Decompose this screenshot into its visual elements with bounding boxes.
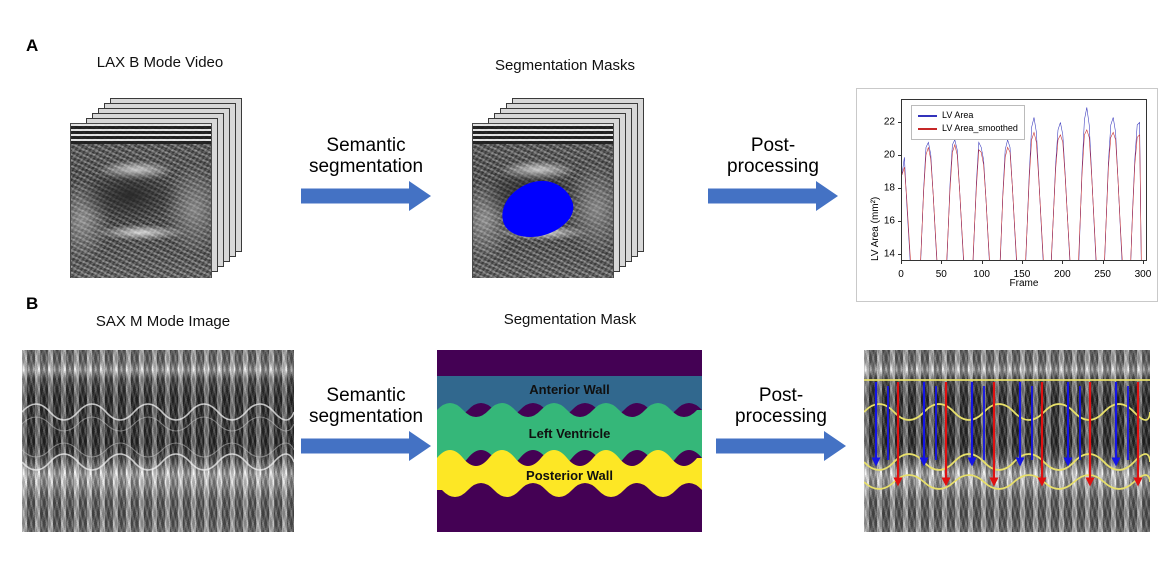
chart-series-lv-area-smoothed <box>902 130 1142 261</box>
mask-class-bands <box>437 350 702 532</box>
lv-area-chart: 1416182022 050100150200250300 Frame LV A… <box>856 88 1158 302</box>
legend-entry-lv-area-smoothed: LV Area_smoothed <box>918 122 1018 135</box>
panel-a-arrow-post-processing: Post- processing <box>698 136 848 211</box>
panel-b-arrow-semantic-segmentation: Semantic segmentation <box>296 386 436 461</box>
panel-letter-a: A <box>26 36 38 56</box>
mask-label-anterior-wall: Anterior Wall <box>437 382 702 397</box>
panel-b-step-2-title: Segmentation Mask <box>435 311 705 328</box>
chart-y-tick-mark <box>898 122 901 123</box>
chart-x-tick-mark <box>1103 261 1104 264</box>
sax-segmentation-mask: Anterior Wall Left Ventricle Posterior W… <box>437 350 702 532</box>
legend-label-lv-area-smoothed: LV Area_smoothed <box>942 122 1018 135</box>
legend-entry-lv-area: LV Area <box>918 109 1018 122</box>
chart-x-axis-label: Frame <box>901 278 1147 289</box>
panel-a-arrow-semantic-segmentation: Semantic segmentation <box>296 136 436 211</box>
arrow-label-line2: processing <box>706 407 856 428</box>
chart-x-tick-mark <box>982 261 983 264</box>
segmentation-mask-frame <box>472 123 614 278</box>
arrow-label-line1: Semantic <box>296 136 436 157</box>
chart-x-tick-mark <box>901 261 902 264</box>
chart-y-tick-label: 14 <box>884 249 895 260</box>
chart-y-tick-label: 22 <box>884 117 895 128</box>
arrow-label-line1: Post- <box>698 136 848 157</box>
arrow-label-line1: Post- <box>706 386 856 407</box>
chart-x-tick-mark <box>1022 261 1023 264</box>
panel-a-step-1-title: LAX B Mode Video <box>30 54 290 71</box>
arrow-label-line1: Semantic <box>296 386 436 407</box>
measurement-annotations <box>864 350 1150 532</box>
legend-label-lv-area: LV Area <box>942 109 973 122</box>
chart-x-tick-mark <box>1062 261 1063 264</box>
panel-letter-b: B <box>26 294 38 314</box>
chart-y-tick-label: 18 <box>884 183 895 194</box>
chart-y-tick-mark <box>898 188 901 189</box>
legend-swatch-lv-area-smoothed <box>918 128 937 130</box>
sax-m-mode-image <box>22 350 294 532</box>
m-mode-wall-texture <box>22 350 294 532</box>
chart-y-tick-mark <box>898 155 901 156</box>
panel-a-step-2-title: Segmentation Masks <box>435 57 695 74</box>
panel-b-step-1-title: SAX M Mode Image <box>28 313 298 330</box>
legend-swatch-lv-area <box>918 115 937 117</box>
chart-legend: LV Area LV Area_smoothed <box>911 105 1025 140</box>
arrow-label-line2: segmentation <box>296 157 436 178</box>
lax-b-mode-video-stack <box>64 98 246 278</box>
chart-y-tick-label: 16 <box>884 216 895 227</box>
chart-x-tick-mark <box>941 261 942 264</box>
lax-b-mode-frame <box>70 123 212 278</box>
chart-y-tick-mark <box>898 221 901 222</box>
contour-traces <box>864 380 1150 489</box>
panel-b-arrow-post-processing: Post- processing <box>706 386 856 461</box>
chart-y-tick-mark <box>898 254 901 255</box>
chart-x-tick-mark <box>1143 261 1144 264</box>
postprocessed-m-mode-measurements <box>864 350 1150 532</box>
arrow-label-line2: processing <box>698 157 848 178</box>
mask-label-left-ventricle: Left Ventricle <box>437 426 702 441</box>
segmentation-masks-stack <box>466 98 648 278</box>
chart-y-axis-label: LV Area (mm²) <box>870 197 881 261</box>
arrow-label-line2: segmentation <box>296 407 436 428</box>
mask-label-posterior-wall: Posterior Wall <box>437 468 702 483</box>
chart-y-tick-label: 20 <box>884 150 895 161</box>
